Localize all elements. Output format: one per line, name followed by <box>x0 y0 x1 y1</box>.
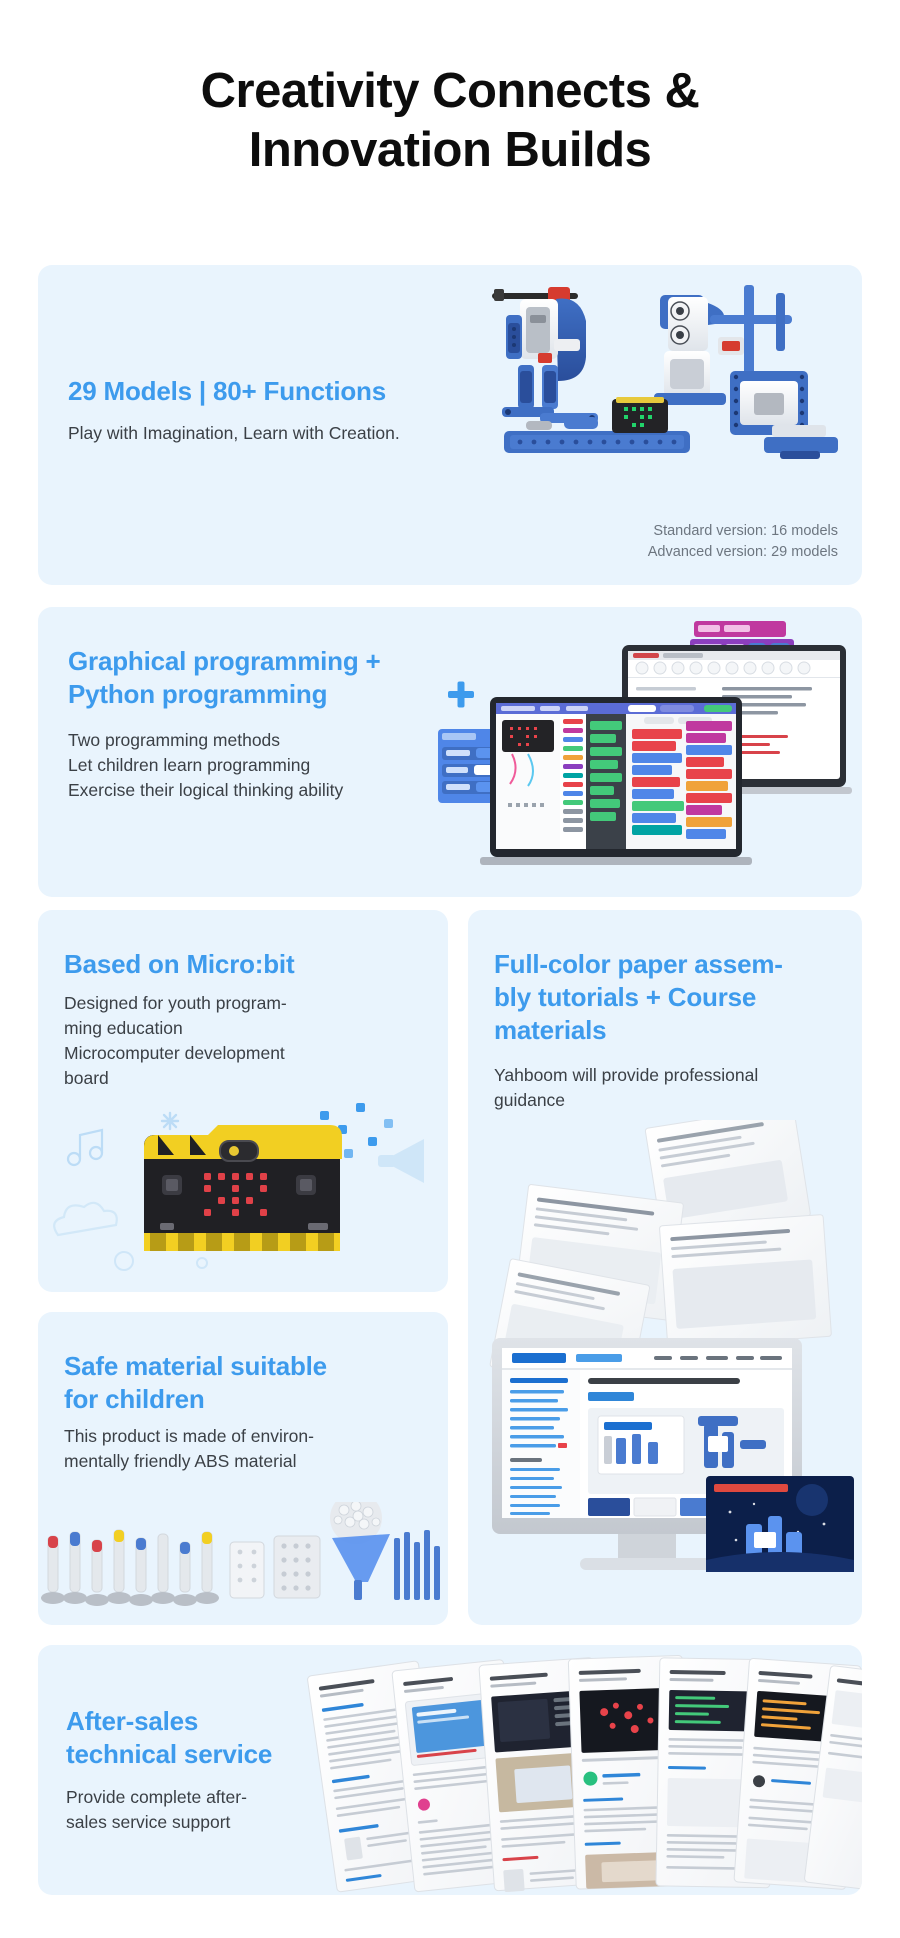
card-programming-title: Graphical programming + Python programmi… <box>68 645 488 711</box>
card-microbit-body-line-2: ming education <box>64 1016 429 1041</box>
version-note-advanced: Advanced version: 29 models <box>648 542 838 563</box>
card-tutorials-title-line-3: materials <box>494 1014 844 1047</box>
card-safe-material-title-line-1: Safe material suitable <box>64 1350 429 1383</box>
decor-cloud-icon <box>54 1203 117 1235</box>
card-programming-title-line-2: Python programming <box>68 678 488 711</box>
card-safe-material-body-line-1: This product is made of environ- <box>64 1424 429 1449</box>
laptops-programming-photo <box>432 617 852 889</box>
card-microbit-text: Based on Micro:bit Designed for youth pr… <box>64 948 429 1090</box>
card-safe-material-title: Safe material suitable for children <box>64 1350 429 1416</box>
decor-megaphone-icon <box>378 1139 424 1183</box>
card-models-title: 29 Models | 80+ Functions <box>68 375 498 408</box>
card-after-sales-title-line-2: technical service <box>66 1738 316 1771</box>
card-safe-material-title-line-2: for children <box>64 1383 429 1416</box>
parts-rods <box>41 1530 219 1606</box>
card-programming-body-line-2: Let children learn programming <box>68 753 488 778</box>
card-after-sales-title-line-1: After-sales <box>66 1705 316 1738</box>
card-tutorials-body: Yahboom will provide professional guidan… <box>494 1063 844 1113</box>
decor-circle-outline <box>115 1252 207 1270</box>
card-tutorials-body-line-2: guidance <box>494 1088 844 1113</box>
page-title: Creativity Connects & Innovation Builds <box>0 0 900 180</box>
robot-tower <box>710 285 808 435</box>
support-forum-screenshots <box>306 1645 862 1895</box>
card-after-sales-title: After-sales technical service <box>66 1705 316 1771</box>
version-note-standard: Standard version: 16 models <box>648 521 838 542</box>
card-tutorials-title: Full-color paper assem- bly tutorials + … <box>494 948 844 1047</box>
card-models-text: 29 Models | 80+ Functions Play with Imag… <box>68 375 498 446</box>
card-after-sales-text: After-sales technical service Provide co… <box>66 1705 316 1835</box>
card-programming-text: Graphical programming + Python programmi… <box>68 645 488 803</box>
card-safe-material: Safe material suitable for children This… <box>38 1312 448 1625</box>
abs-parts-photo <box>38 1502 448 1617</box>
card-safe-material-body: This product is made of environ- mentall… <box>64 1424 429 1474</box>
blue-funnel <box>332 1534 390 1600</box>
card-tutorials-text: Full-color paper assem- bly tutorials + … <box>494 948 844 1113</box>
card-after-sales-body-line-1: Provide complete after- <box>66 1785 316 1810</box>
robot-models-photo <box>464 281 854 511</box>
robot-owl <box>654 295 726 405</box>
card-tutorials-title-line-1: Full-color paper assem- <box>494 948 844 981</box>
version-note: Standard version: 16 models Advanced ver… <box>648 521 838 563</box>
card-microbit-body-line-1: Designed for youth program- <box>64 991 429 1016</box>
microbit-board-photo <box>38 1085 448 1285</box>
card-tutorials-body-line-1: Yahboom will provide professional <box>494 1063 844 1088</box>
page-title-line-2: Innovation Builds <box>0 121 900 180</box>
card-programming-title-line-1: Graphical programming + <box>68 645 488 678</box>
page-title-line-1: Creativity Connects & <box>201 64 700 118</box>
product-feature-page: Creativity Connects & Innovation Builds <box>0 0 900 1938</box>
card-tutorials-title-line-2: bly tutorials + Course <box>494 981 844 1014</box>
card-programming: Graphical programming + Python programmi… <box>38 607 862 897</box>
card-safe-material-body-line-2: mentally friendly ABS material <box>64 1449 429 1474</box>
card-after-sales-body-line-2: sales service support <box>66 1810 316 1835</box>
laptop-makecode-blocks <box>480 697 752 865</box>
space-poster <box>706 1476 854 1572</box>
card-microbit-body-line-3: Microcomputer development <box>64 1041 429 1066</box>
card-microbit: Based on Micro:bit Designed for youth pr… <box>38 910 448 1292</box>
card-microbit-body: Designed for youth program- ming educati… <box>64 991 429 1090</box>
decor-sparkle-icon <box>162 1113 178 1129</box>
card-after-sales: After-sales technical service Provide co… <box>38 1645 862 1895</box>
perforated-plates <box>230 1536 320 1598</box>
robot-humanoid <box>492 287 598 423</box>
card-tutorials: Full-color paper assem- bly tutorials + … <box>468 910 862 1625</box>
microbit-board <box>144 1125 342 1251</box>
card-programming-body-line-1: Two programming methods <box>68 728 488 753</box>
robot-block-cluster <box>764 425 838 459</box>
card-models-body: Play with Imagination, Learn with Creati… <box>68 421 498 446</box>
tutorial-papers-and-monitor-photo <box>468 1120 862 1620</box>
card-models-functions: 29 Models | 80+ Functions Play with Imag… <box>38 265 862 585</box>
card-programming-body: Two programming methods Let children lea… <box>68 728 488 803</box>
card-microbit-title: Based on Micro:bit <box>64 948 429 981</box>
blue-strips <box>394 1530 440 1600</box>
decor-music-note-icon <box>68 1130 102 1165</box>
card-programming-body-line-3: Exercise their logical thinking ability <box>68 778 488 803</box>
card-after-sales-body: Provide complete after- sales service su… <box>66 1785 316 1835</box>
card-safe-material-text: Safe material suitable for children This… <box>64 1350 429 1474</box>
